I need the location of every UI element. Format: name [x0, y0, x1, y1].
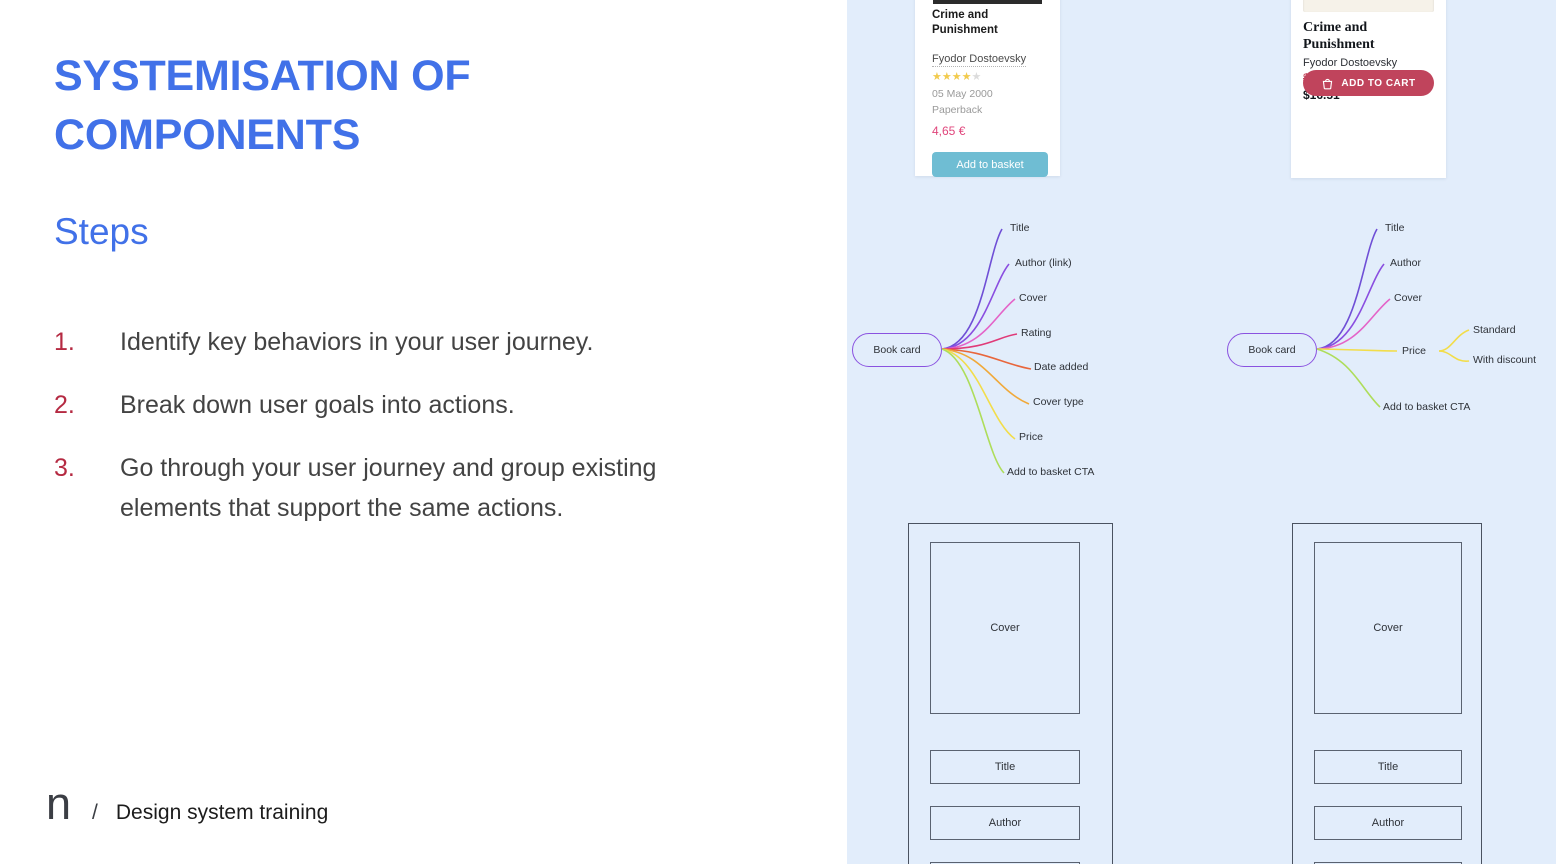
add-to-cart-label: ADD TO CART: [1341, 78, 1415, 89]
mindmap-root-node[interactable]: Book card: [852, 333, 942, 367]
mindmap-label-cover[interactable]: Cover: [1019, 293, 1047, 304]
wireframe-book-card-reduced: Cover Title Author Price: [1292, 523, 1482, 864]
wireframe-field-author[interactable]: Author: [930, 806, 1080, 840]
book-cover-type: Paperback: [932, 102, 1046, 118]
basket-icon: [1321, 77, 1334, 90]
mindmap-label-rating[interactable]: Rating: [1021, 328, 1051, 339]
mindmap-label-price[interactable]: Price: [1019, 432, 1043, 443]
mindmap-label-author[interactable]: Author (link): [1015, 258, 1072, 269]
book-author-link[interactable]: Fyodor Dostoevsky: [932, 53, 1026, 67]
step-number: 1.: [54, 322, 120, 363]
footer-label: Design system training: [116, 801, 328, 825]
mindmap-label-cta[interactable]: Add to basket CTA: [1383, 402, 1470, 413]
mindmap-label-cta[interactable]: Add to basket CTA: [1007, 467, 1094, 478]
page-title: Systemisation of components: [54, 47, 614, 166]
mindmap-root-node[interactable]: Book card: [1227, 333, 1317, 367]
mindmap-label-title[interactable]: Title: [1010, 223, 1029, 234]
wireframe-field-title[interactable]: Title: [1314, 750, 1462, 784]
rating-stars[interactable]: ★★★★★: [932, 70, 1046, 85]
mindmap-label-price[interactable]: Price: [1402, 346, 1426, 357]
wireframe-cover-box[interactable]: Cover: [930, 542, 1080, 714]
mindmap-label-date-added[interactable]: Date added: [1034, 362, 1088, 373]
book-title: Crime and Punishment: [1303, 20, 1436, 54]
wireframe-field-title[interactable]: Title: [930, 750, 1080, 784]
wireframe-field-author[interactable]: Author: [1314, 806, 1462, 840]
book-title: Crime and Punishment: [932, 8, 1046, 38]
steps-list: 1. Identify key behaviors in your user j…: [54, 322, 764, 551]
list-item: 3. Go through your user journey and grou…: [54, 448, 764, 530]
book-price: 4,65 €: [932, 124, 1046, 138]
brand-logo: n: [46, 781, 70, 826]
book-cover-image: [933, 0, 1042, 4]
book-date-added: 05 May 2000: [932, 86, 1046, 102]
wireframe-book-card-full: Cover Title Author Rating: [908, 523, 1113, 864]
list-item: 1. Identify key behaviors in your user j…: [54, 322, 764, 363]
slide-canvas: Systemisation of components Steps 1. Ide…: [0, 0, 1556, 864]
footer: n / Design system training: [46, 781, 328, 826]
mindmap-label-price-with-discount[interactable]: With discount: [1473, 355, 1536, 366]
book-author: Fyodor Dostoevsky: [1303, 57, 1436, 69]
mindmap-label-cover-type[interactable]: Cover type: [1033, 397, 1084, 408]
step-number: 3.: [54, 448, 120, 489]
add-to-basket-button[interactable]: Add to basket: [932, 152, 1048, 177]
step-text: Go through your user journey and group e…: [120, 448, 764, 530]
mindmap-label-cover[interactable]: Cover: [1394, 293, 1422, 304]
steps-heading: Steps: [54, 210, 149, 254]
content-panel: Systemisation of components Steps 1. Ide…: [0, 0, 847, 864]
book-card-cart: Crime and Punishment Fyodor Dostoevsky $…: [1291, 0, 1446, 178]
wireframe-cover-box[interactable]: Cover: [1314, 542, 1462, 714]
mindmap-label-author[interactable]: Author: [1390, 258, 1421, 269]
mindmap-label-price-standard[interactable]: Standard: [1473, 325, 1516, 336]
add-to-cart-button[interactable]: ADD TO CART: [1303, 70, 1434, 96]
list-item: 2. Break down user goals into actions.: [54, 385, 764, 426]
illustration-panel: Crime and Punishment Fyodor Dostoevsky ★…: [847, 0, 1556, 864]
step-text: Break down user goals into actions.: [120, 385, 515, 426]
step-text: Identify key behaviors in your user jour…: [120, 322, 593, 363]
book-card-body: Crime and Punishment Fyodor Dostoevsky ★…: [932, 8, 1046, 177]
footer-separator: /: [92, 801, 98, 825]
book-cover-image: [1303, 0, 1434, 12]
mindmap-label-title[interactable]: Title: [1385, 223, 1404, 234]
mindmap-book-card-reduced: Book card Title Author Cover Price Add t…: [1217, 205, 1556, 435]
mindmap-book-card-full: Book card Title Author (link) Cover Rati…: [847, 205, 1157, 495]
book-card-basket: Crime and Punishment Fyodor Dostoevsky ★…: [915, 0, 1060, 176]
step-number: 2.: [54, 385, 120, 426]
